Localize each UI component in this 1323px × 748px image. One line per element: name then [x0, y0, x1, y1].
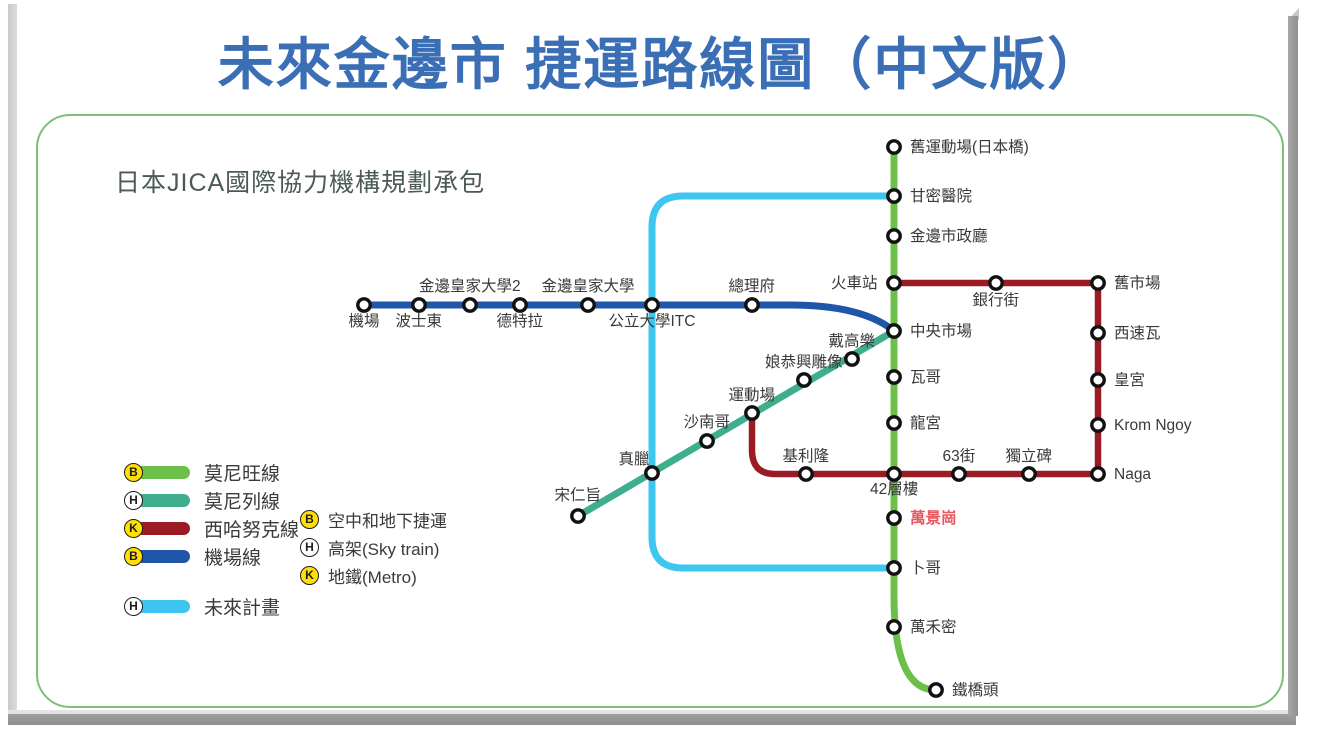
- station-label: 萬景崗: [910, 511, 957, 527]
- station-marker[interactable]: [1092, 327, 1104, 339]
- station-label: 龍宮: [910, 416, 941, 432]
- station-marker[interactable]: [701, 435, 713, 447]
- mode-badge-h-icon: H: [124, 491, 143, 510]
- station-label: 獨立碑: [1006, 449, 1053, 465]
- station-marker[interactable]: [888, 468, 900, 480]
- station-marker[interactable]: [514, 299, 526, 311]
- legend-line-label: 西哈努克線: [204, 515, 299, 542]
- station-marker[interactable]: [1092, 277, 1104, 289]
- legend-mode-row[interactable]: K地鐵(Metro): [300, 561, 447, 589]
- line-path-future: [652, 196, 894, 568]
- station-label: 運動場: [729, 388, 776, 404]
- station-marker[interactable]: [800, 468, 812, 480]
- station-marker[interactable]: [846, 353, 858, 365]
- station-marker[interactable]: [572, 510, 584, 522]
- legend-line-row[interactable]: K西哈努克線: [124, 514, 299, 542]
- station-marker[interactable]: [746, 407, 758, 419]
- mode-badge-b-icon: B: [300, 510, 319, 529]
- station-marker[interactable]: [888, 277, 900, 289]
- station-label: 金邊市政廳: [910, 229, 988, 245]
- legend-line-row[interactable]: B莫尼旺線: [124, 458, 299, 486]
- legend-color-swatch: [136, 522, 190, 535]
- station-marker[interactable]: [930, 684, 942, 696]
- mode-badge-h-icon: H: [300, 538, 319, 557]
- station-marker[interactable]: [888, 512, 900, 524]
- mode-badge-k-icon: K: [300, 566, 319, 585]
- mode-badge-k-icon: K: [124, 519, 143, 538]
- station-label: 沙南哥: [684, 415, 731, 431]
- legend-mode-row[interactable]: H高架(Sky train): [300, 533, 447, 561]
- legend-line-label: 未來計畫: [204, 593, 280, 620]
- station-marker[interactable]: [1023, 468, 1035, 480]
- legend-color-swatch: [136, 550, 190, 563]
- mode-badge-b-icon: B: [124, 463, 143, 482]
- station-marker[interactable]: [953, 468, 965, 480]
- legend-mode-row[interactable]: B空中和地下捷運: [300, 505, 447, 533]
- station-label: 萬禾密: [910, 620, 957, 636]
- legend-mode-label: 高架(Sky train): [328, 535, 439, 560]
- station-marker[interactable]: [888, 325, 900, 337]
- legend-spacer: [124, 570, 299, 592]
- slide-frame: 未來金邊市 捷運路線圖（中文版） 日本JICA國際協力機構規劃承包 舊運動場(日…: [0, 0, 1323, 748]
- station-marker[interactable]: [990, 277, 1002, 289]
- station-marker[interactable]: [646, 467, 658, 479]
- station-marker[interactable]: [358, 299, 370, 311]
- station-label: 機場: [349, 314, 380, 330]
- station-marker[interactable]: [888, 230, 900, 242]
- station-label: 卜哥: [910, 561, 941, 577]
- station-label: 公立大學ITC: [609, 314, 696, 330]
- legend-color-swatch: [136, 600, 190, 613]
- station-label: 西速瓦: [1114, 326, 1161, 342]
- station-marker[interactable]: [1092, 419, 1104, 431]
- station-label: 總理府: [729, 279, 776, 295]
- station-label: Naga: [1114, 467, 1151, 483]
- legend-line-row[interactable]: H未來計畫: [124, 592, 299, 620]
- station-label: 金邊皇家大學: [542, 279, 635, 295]
- station-label: 63街: [943, 449, 976, 465]
- station-label: 基利隆: [783, 449, 830, 465]
- station-label: 甘密醫院: [910, 189, 972, 205]
- legend-mode-label: 空中和地下捷運: [328, 507, 447, 532]
- legend-line-label: 莫尼旺線: [204, 459, 280, 486]
- station-marker[interactable]: [798, 374, 810, 386]
- station-label: 銀行街: [973, 293, 1020, 309]
- station-marker[interactable]: [888, 621, 900, 633]
- station-markers: [358, 141, 1104, 696]
- station-marker[interactable]: [888, 371, 900, 383]
- legend-color-swatch: [136, 494, 190, 507]
- station-marker[interactable]: [888, 417, 900, 429]
- station-label: 鐵橋頭: [952, 683, 999, 699]
- legend-line-row[interactable]: B機場線: [124, 542, 299, 570]
- station-marker[interactable]: [1092, 374, 1104, 386]
- station-marker[interactable]: [1092, 468, 1104, 480]
- station-label: 德特拉: [497, 314, 544, 330]
- station-label: 宋仁旨: [555, 488, 602, 504]
- mode-legend: B空中和地下捷運H高架(Sky train)K地鐵(Metro): [300, 505, 447, 589]
- station-label: 戴高樂: [829, 334, 876, 350]
- station-marker[interactable]: [646, 299, 658, 311]
- mode-badge-b-icon: B: [124, 547, 143, 566]
- legend-line-label: 機場線: [204, 543, 261, 570]
- legend-color-swatch: [136, 466, 190, 479]
- station-marker[interactable]: [888, 562, 900, 574]
- station-label: 皇宮: [1114, 373, 1145, 389]
- station-marker[interactable]: [413, 299, 425, 311]
- station-label: 真臘: [619, 452, 650, 468]
- station-label: 舊運動場(日本橋): [910, 140, 1029, 156]
- station-label: 舊市場: [1114, 276, 1161, 292]
- legend-mode-label: 地鐵(Metro): [328, 563, 417, 588]
- legend-line-row[interactable]: H莫尼列線: [124, 486, 299, 514]
- station-label: 金邊皇家大學2: [419, 279, 521, 295]
- station-marker[interactable]: [464, 299, 476, 311]
- mode-badge-h-icon: H: [124, 597, 143, 616]
- station-marker[interactable]: [582, 299, 594, 311]
- station-marker[interactable]: [746, 299, 758, 311]
- station-label: 娘恭興雕像: [765, 355, 843, 371]
- station-label: 火車站: [831, 276, 878, 292]
- station-label: 瓦哥: [910, 370, 941, 386]
- station-marker[interactable]: [888, 190, 900, 202]
- station-label: 42層樓: [870, 482, 918, 498]
- station-marker[interactable]: [888, 141, 900, 153]
- station-label: 中央市場: [910, 324, 972, 340]
- station-label: 波士東: [396, 314, 443, 330]
- station-label: Krom Ngoy: [1114, 418, 1192, 434]
- legend-line-label: 莫尼列線: [204, 487, 280, 514]
- line-legend: B莫尼旺線H莫尼列線K西哈努克線B機場線H未來計畫: [124, 458, 299, 620]
